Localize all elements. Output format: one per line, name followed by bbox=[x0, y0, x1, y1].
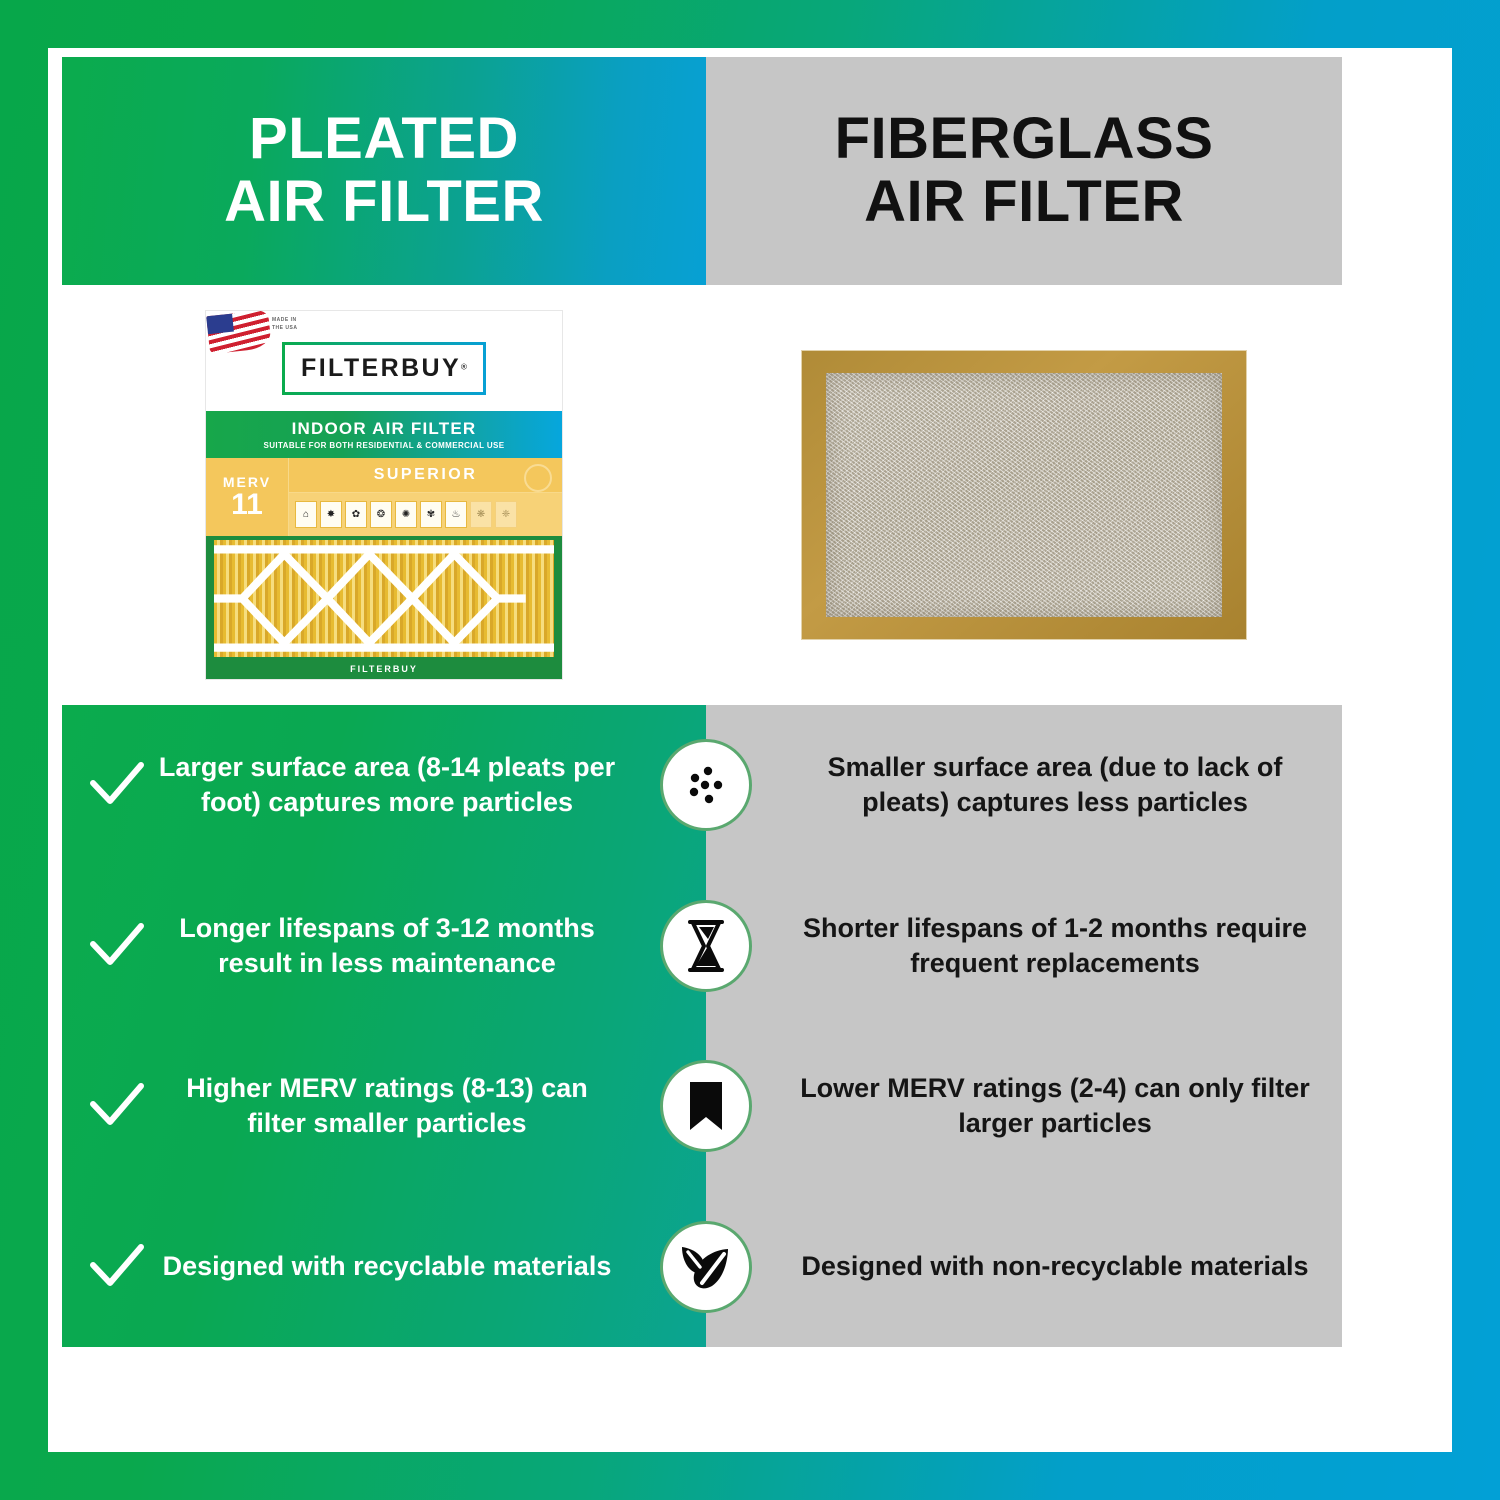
row-left-side: Longer lifespans of 3-12 months result i… bbox=[62, 911, 706, 981]
fiberglass-filter-image bbox=[802, 351, 1246, 639]
band-subtitle: SUITABLE FOR BOTH RESIDENTIAL & COMMERCI… bbox=[263, 441, 504, 450]
header-left-pleated: PLEATED AIR FILTER bbox=[62, 57, 706, 285]
tier-label: SUPERIOR bbox=[289, 458, 562, 493]
comparison-rows: Larger surface area (8-14 pleats per foo… bbox=[62, 705, 1342, 1347]
filterbuy-logo-text: FILTERBUY bbox=[301, 354, 461, 382]
product-cell-pleated: MADE IN THE USA FILTERBUY® INDOOR AIR FI… bbox=[62, 311, 706, 679]
row-left-text: Larger surface area (8-14 pleats per foo… bbox=[154, 750, 620, 820]
registered-mark: ® bbox=[461, 362, 467, 371]
hourglass-icon bbox=[660, 900, 752, 992]
row-right-side: Smaller surface area (due to lack of ple… bbox=[706, 750, 1342, 820]
row-left-text: Longer lifespans of 3-12 months result i… bbox=[154, 911, 620, 981]
check-icon bbox=[80, 922, 154, 970]
feature-icon-strip: ⌂ ✸ ✿ ❂ ✺ ✾ ♨ ❋ ❈ bbox=[289, 493, 562, 536]
fiberglass-media-texture bbox=[826, 373, 1222, 617]
row-right-side: Lower MERV ratings (2-4) can only filter… bbox=[706, 1071, 1342, 1141]
filterbuy-logo: FILTERBUY® bbox=[282, 342, 486, 395]
row-left-side: Designed with recyclable materials bbox=[62, 1243, 706, 1291]
row-left-side: Larger surface area (8-14 pleats per foo… bbox=[62, 750, 706, 820]
pollen-icon: ❂ bbox=[370, 501, 392, 528]
header-row: PLEATED AIR FILTER FIBERGLASS AIR FILTER bbox=[62, 57, 1342, 285]
check-icon bbox=[80, 1243, 154, 1291]
usa-flag-icon bbox=[206, 311, 272, 354]
row-left-side: Higher MERV ratings (8-13) can filter sm… bbox=[62, 1071, 706, 1141]
ul-certification-icon bbox=[524, 464, 552, 492]
check-icon bbox=[80, 1082, 154, 1130]
comparison-row: Higher MERV ratings (8-13) can filter sm… bbox=[62, 1026, 1342, 1187]
row-right-text: Lower MERV ratings (2-4) can only filter… bbox=[792, 1071, 1318, 1141]
merv-strip: MERV 11 SUPERIOR ⌂ ✸ ✿ ❂ ✺ ✾ bbox=[206, 458, 562, 536]
mite-icon: ✸ bbox=[320, 501, 342, 528]
diamond-support-grid bbox=[214, 540, 554, 657]
bacteria-icon: ✺ bbox=[395, 501, 417, 528]
pleated-label-top: MADE IN THE USA FILTERBUY® bbox=[206, 311, 562, 411]
made-in-usa-text: MADE IN THE USA bbox=[272, 317, 297, 332]
comparison-row: Designed with recyclable materials Desig… bbox=[62, 1187, 1342, 1348]
pleated-media: FILTERBUY bbox=[206, 536, 562, 679]
pleated-filter-image: MADE IN THE USA FILTERBUY® INDOOR AIR FI… bbox=[206, 311, 562, 679]
smog-icon: ❈ bbox=[495, 501, 517, 528]
mold-icon: ✿ bbox=[345, 501, 367, 528]
merv-strip-right: SUPERIOR ⌂ ✸ ✿ ❂ ✺ ✾ ♨ ❋ ❈ bbox=[289, 458, 562, 536]
virus-icon: ❋ bbox=[470, 501, 492, 528]
comparison-poster: PLEATED AIR FILTER FIBERGLASS AIR FILTER… bbox=[0, 0, 1500, 1500]
row-right-text: Shorter lifespans of 1-2 months require … bbox=[792, 911, 1318, 981]
comparison-section: Larger surface area (8-14 pleats per foo… bbox=[62, 705, 1342, 1347]
dust-icon: ⌂ bbox=[295, 501, 317, 528]
row-right-text: Smaller surface area (due to lack of ple… bbox=[792, 750, 1318, 820]
row-left-text: Designed with recyclable materials bbox=[154, 1249, 620, 1284]
row-right-text: Designed with non-recyclable materials bbox=[801, 1249, 1308, 1284]
pet-dander-icon: ✾ bbox=[420, 501, 442, 528]
merv-value: 11 bbox=[231, 490, 263, 520]
bookmark-icon bbox=[660, 1060, 752, 1152]
header-title-left: PLEATED AIR FILTER bbox=[224, 108, 544, 233]
band-title: INDOOR AIR FILTER bbox=[292, 419, 477, 439]
poster-content: PLEATED AIR FILTER FIBERGLASS AIR FILTER… bbox=[62, 57, 1342, 1347]
row-left-text: Higher MERV ratings (8-13) can filter sm… bbox=[154, 1071, 620, 1141]
merv-badge: MERV 11 bbox=[206, 458, 289, 536]
products-row: MADE IN THE USA FILTERBUY® INDOOR AIR FI… bbox=[62, 285, 1342, 705]
leaf-icon bbox=[660, 1221, 752, 1313]
indoor-air-filter-band: INDOOR AIR FILTER SUITABLE FOR BOTH RESI… bbox=[206, 411, 562, 458]
particles-icon bbox=[660, 739, 752, 831]
row-right-side: Shorter lifespans of 1-2 months require … bbox=[706, 911, 1342, 981]
check-icon bbox=[80, 761, 154, 809]
header-title-right: FIBERGLASS AIR FILTER bbox=[835, 108, 1214, 233]
header-right-fiberglass: FIBERGLASS AIR FILTER bbox=[706, 57, 1342, 285]
smoke-icon: ♨ bbox=[445, 501, 467, 528]
comparison-row: Larger surface area (8-14 pleats per foo… bbox=[62, 705, 1342, 866]
product-cell-fiberglass bbox=[706, 351, 1342, 639]
pleated-footer-brand: FILTERBUY bbox=[206, 664, 562, 674]
row-right-side: Designed with non-recyclable materials bbox=[706, 1249, 1342, 1284]
comparison-row: Longer lifespans of 3-12 months result i… bbox=[62, 866, 1342, 1027]
